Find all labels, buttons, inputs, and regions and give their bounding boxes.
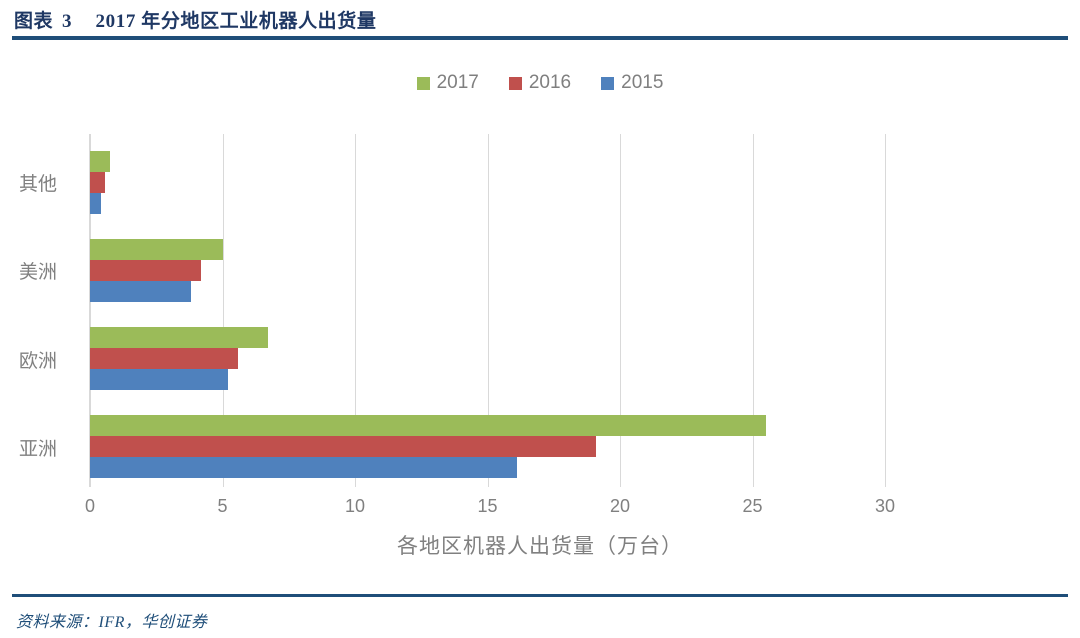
legend-item-2016[interactable]: 2016 xyxy=(509,72,571,94)
source-note: 资料来源：IFR，华创证券 xyxy=(16,608,207,632)
bar-美洲-2016[interactable] xyxy=(90,260,201,281)
bar-group-欧洲 xyxy=(90,327,885,390)
bar-group-其他 xyxy=(90,151,885,214)
bar-亚洲-2015[interactable] xyxy=(90,457,517,478)
x-gridline xyxy=(885,134,886,487)
bar-欧洲-2015[interactable] xyxy=(90,369,228,390)
x-tick-label: 25 xyxy=(723,496,783,517)
chart-legend: 201720162015 xyxy=(0,72,1080,94)
x-axis-title: 各地区机器人出货量（万台） xyxy=(0,530,1080,560)
figure-label: 图表 xyxy=(14,6,53,33)
legend-swatch-icon xyxy=(601,77,614,90)
footer-divider xyxy=(12,594,1068,597)
legend-item-2015[interactable]: 2015 xyxy=(601,72,663,94)
bar-欧洲-2017[interactable] xyxy=(90,327,268,348)
y-category-label-亚洲: 亚洲 xyxy=(0,434,76,461)
bar-亚洲-2017[interactable] xyxy=(90,415,766,436)
legend-swatch-icon xyxy=(509,77,522,90)
legend-label: 2017 xyxy=(437,72,479,94)
legend-label: 2016 xyxy=(529,72,571,94)
figure-header: 图表 3 2017 年分地区工业机器人出货量 xyxy=(0,0,1080,40)
y-category-label-欧洲: 欧洲 xyxy=(0,346,76,373)
x-tick-label: 15 xyxy=(458,496,518,517)
bar-其他-2016[interactable] xyxy=(90,172,105,193)
header-divider xyxy=(12,36,1068,40)
y-category-label-美洲: 美洲 xyxy=(0,257,76,284)
x-tick-label: 30 xyxy=(855,496,915,517)
bar-其他-2017[interactable] xyxy=(90,151,110,172)
x-tick-label: 0 xyxy=(60,496,120,517)
bar-亚洲-2016[interactable] xyxy=(90,436,596,457)
x-tick-label: 5 xyxy=(193,496,253,517)
x-tick-label: 10 xyxy=(325,496,385,517)
figure-number: 3 xyxy=(62,11,72,33)
bar-美洲-2017[interactable] xyxy=(90,239,223,260)
figure-title-text: 2017 年分地区工业机器人出货量 xyxy=(96,6,377,33)
page-title: 图表 3 2017 年分地区工业机器人出货量 xyxy=(14,6,376,33)
x-tick-label: 20 xyxy=(590,496,650,517)
legend-item-2017[interactable]: 2017 xyxy=(417,72,479,94)
bar-欧洲-2016[interactable] xyxy=(90,348,238,369)
bar-group-美洲 xyxy=(90,239,885,302)
bar-其他-2015[interactable] xyxy=(90,193,101,214)
bar-group-亚洲 xyxy=(90,415,885,478)
chart-plot-area xyxy=(90,134,885,487)
y-category-label-其他: 其他 xyxy=(0,169,76,196)
legend-swatch-icon xyxy=(417,77,430,90)
figure-container: 图表 3 2017 年分地区工业机器人出货量 201720162015 各地区机… xyxy=(0,0,1080,638)
legend-label: 2015 xyxy=(621,72,663,94)
bar-美洲-2015[interactable] xyxy=(90,281,191,302)
